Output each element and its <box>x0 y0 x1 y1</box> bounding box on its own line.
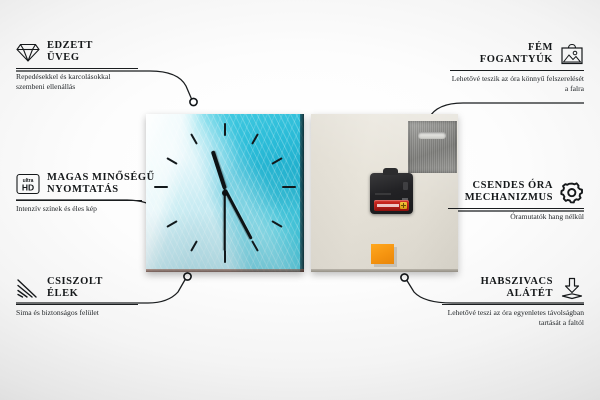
mechanism-dot <box>403 182 408 190</box>
metal-hanger-plate <box>408 121 457 173</box>
callout-heading: FÉM FOGANTYÚK <box>450 42 584 66</box>
hour-marker-1 <box>251 133 259 144</box>
mechanism-line <box>375 193 391 195</box>
callout-csiszolt-elek: CSISZOLT ÉLEK Sima és biztonságos felüle… <box>16 276 138 318</box>
svg-text:HD: HD <box>22 183 34 193</box>
hour-marker-6 <box>224 250 226 263</box>
callout-heading: CSENDES ÓRA MECHANIZMUS <box>448 180 584 204</box>
hour-marker-2 <box>271 157 282 165</box>
callout-fem-fogantyuk: FÉM FOGANTYÚK Lehetővé teszik az óra kön… <box>450 42 584 93</box>
callout-heading: CSISZOLT ÉLEK <box>16 276 138 300</box>
callout-description: Intenzív színek és éles kép <box>16 204 142 214</box>
hour-marker-3 <box>282 186 296 188</box>
callout-edzett-uveg: EDZETT ÜVEG Repedésekkel és karcolásokka… <box>16 40 138 91</box>
callout-title: CSISZOLT ÉLEK <box>47 276 103 300</box>
callout-divider <box>16 304 138 305</box>
callout-divider <box>450 70 584 71</box>
hour-marker-11 <box>190 133 198 144</box>
hour-marker-12 <box>224 123 226 136</box>
callout-heading: HABSZIVACS ALÁTÉT <box>442 276 584 300</box>
callout-divider <box>16 200 142 201</box>
callout-description: Repedésekkel és karcolásokkal szembeni e… <box>16 72 138 91</box>
callout-heading: EDZETT ÜVEG <box>16 40 138 64</box>
infographic-stage: EDZETT ÜVEG Repedésekkel és karcolásokka… <box>0 0 600 400</box>
mechanism-hanger-tab <box>383 168 398 175</box>
foam-pad <box>371 244 394 264</box>
callout-divider <box>442 304 584 305</box>
polished-edges-icon <box>16 278 40 299</box>
callout-heading: ultra HD MAGAS MINŐSÉGŰ NYOMTATÁS <box>16 172 142 196</box>
second-hand <box>224 189 226 251</box>
callout-title: CSENDES ÓRA MECHANIZMUS <box>465 180 553 204</box>
connector-dot-csiszolt-elek <box>184 273 191 280</box>
ultra-hd-icon: ultra HD <box>16 173 40 195</box>
clock-mechanism <box>370 173 413 214</box>
hanger-slot <box>418 132 446 139</box>
callout-divider <box>16 68 138 69</box>
callout-title: HABSZIVACS ALÁTÉT <box>481 276 553 300</box>
hour-marker-10 <box>166 157 177 165</box>
hour-marker-4 <box>271 220 282 228</box>
callout-description: Óramutatók hang nélkül <box>448 212 584 222</box>
foam-pad-arrow-icon <box>560 277 584 300</box>
callout-csendes-ora-mechanizmus: CSENDES ÓRA MECHANIZMUS Óramutatók hang … <box>448 180 584 222</box>
diamond-icon <box>16 42 40 63</box>
callout-habszivacs-alatet: HABSZIVACS ALÁTÉT Lehetővé teszi az óra … <box>442 276 584 327</box>
gear-icon <box>560 181 584 204</box>
battery-plus-terminal <box>400 202 407 209</box>
callout-description: Lehetővé teszik az óra könnyű felszerelé… <box>450 74 584 93</box>
clock-dial <box>146 114 304 272</box>
clock-hub <box>222 190 228 196</box>
callout-title: FÉM FOGANTYÚK <box>480 42 553 66</box>
callout-description: Lehetővé teszi az óra egyenletes távolsá… <box>442 308 584 327</box>
hour-marker-8 <box>166 220 177 228</box>
connector-dot-habszivacs <box>401 274 408 281</box>
hanger-frame-icon <box>560 43 584 65</box>
hour-marker-5 <box>251 240 259 251</box>
callout-title: EDZETT ÜVEG <box>47 40 93 64</box>
callout-magas-minosegu-nyomtatas: ultra HD MAGAS MINŐSÉGŰ NYOMTATÁS Intenz… <box>16 172 142 214</box>
minute-hand <box>224 188 253 239</box>
callout-description: Sima és biztonságos felület <box>16 308 138 318</box>
battery-label <box>377 204 399 207</box>
clock-back-panel <box>311 114 458 272</box>
aa-battery <box>374 200 409 211</box>
callout-title: MAGAS MINŐSÉGŰ NYOMTATÁS <box>47 172 155 196</box>
callout-divider <box>448 208 584 209</box>
hour-marker-9 <box>154 186 168 188</box>
hour-marker-7 <box>190 240 198 251</box>
hour-hand <box>211 150 227 189</box>
connector-dot-edzett-uveg <box>190 98 197 105</box>
